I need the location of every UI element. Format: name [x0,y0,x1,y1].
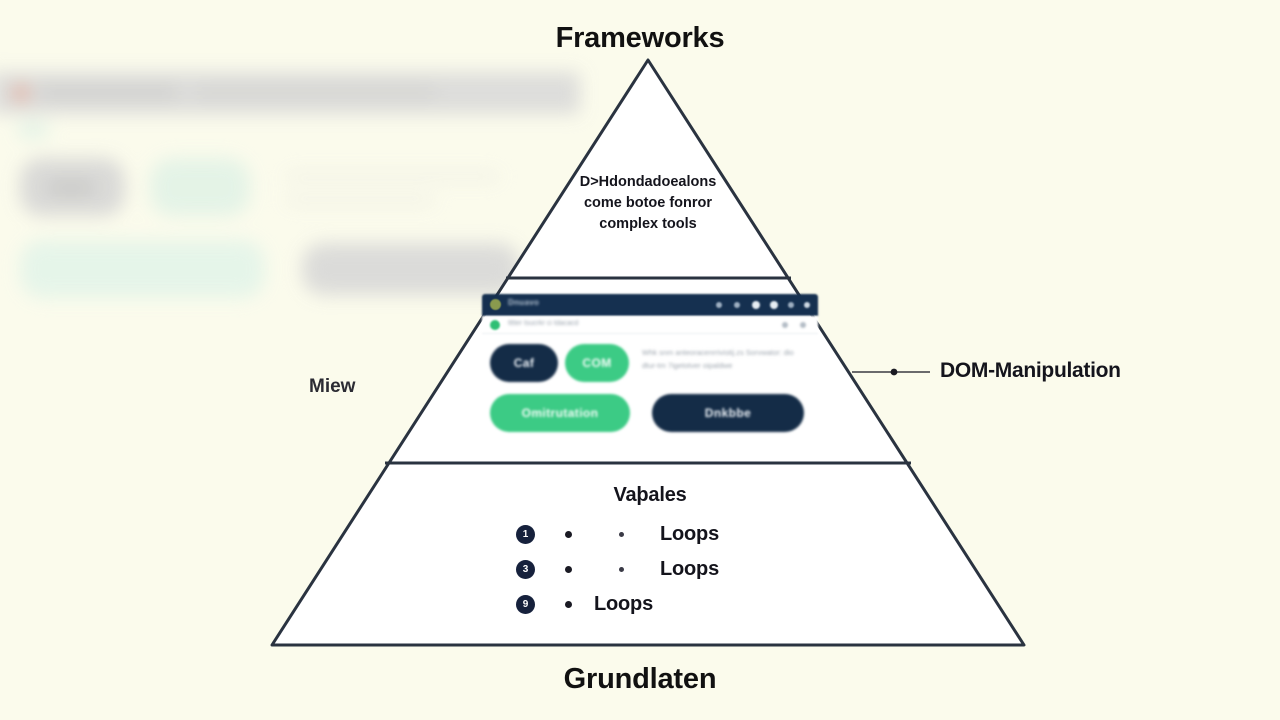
list-item-badge: 1 [516,525,535,544]
list-item: 3 Loops [380,552,920,587]
mockup-refresh-icon[interactable] [782,322,788,328]
list-item-subbullet-icon [619,532,624,537]
mockup-paragraph-line-1: Whk snm anteoracenrrivistij.zs Sorvwator… [642,346,807,359]
list-item: 9 Loops [380,587,920,622]
mockup-chrome-forward-icon[interactable] [734,302,740,308]
mockup-button-wide-accent[interactable]: Omitrutation [490,394,630,432]
tier-apex-line-3: complex tools [528,214,768,235]
list-item-badge: 3 [516,560,535,579]
mockup-chrome-maximize-icon[interactable] [770,301,778,309]
annotation-right-label: DOM-Manipulation [940,359,1121,383]
mockup-content-area: Caf COM Omitrutation Dnkbbe Whk snm ante… [482,336,818,452]
mockup-button-accent[interactable]: COM [565,344,629,382]
mockup-button-primary[interactable]: Caf [490,344,558,382]
mockup-favicon-icon [490,299,501,310]
mockup-url-text: tttter tsucrkr ci tdacacd [508,320,578,327]
list-item-bullet-icon [565,566,572,573]
mockup-chrome-minimize-icon[interactable] [752,301,760,309]
list-item-label: Loops [660,558,719,581]
mockup-chrome-share-icon[interactable] [788,302,794,308]
list-item-bullet-icon [565,531,572,538]
mockup-menu-icon[interactable] [800,322,806,328]
pyramid-tier-base-content: Vaþales 1 Loops 3 Loops 9 Loops [380,484,920,622]
page-title-bottom: Grundlaten [0,663,1280,696]
list-item-subbullet-icon [619,567,624,572]
mockup-secure-lock-icon [490,320,500,330]
mockup-chrome-back-icon[interactable] [716,302,722,308]
list-item-bullet-icon [565,601,572,608]
mockup-button-wide-primary[interactable]: Dnkbbe [652,394,804,432]
mockup-paragraph-text: Whk snm anteoracenrrivistij.zs Sorvwator… [642,346,807,372]
tier-apex-line-2: come botoe fonror [528,193,768,214]
annotation-left-label: Miew [309,376,355,398]
tier-apex-line-1: D>Hdondadoealons [528,172,768,193]
list-item-label: Loops [594,593,653,616]
list-item-label: Loops [660,523,719,546]
mockup-url-bar[interactable]: tttter tsucrkr ci tdacacd [482,316,818,334]
tier-base-heading: Vaþales [380,484,920,507]
pyramid-tier-apex-text: D>Hdondadoealons come botoe fonror compl… [528,172,768,235]
list-item: 1 Loops [380,517,920,552]
list-item-badge: 9 [516,595,535,614]
diagram-canvas: Frameworks D>Hdondadoealons come botoe f… [0,0,1280,720]
annotation-leader-dot-icon [891,369,898,376]
mockup-chrome-close-icon[interactable] [804,302,810,308]
mockup-paragraph-line-2: dtur-tm 7igetotver oipaldwe [642,359,807,372]
browser-window-mockup: Dnuavo tttter tsucrkr ci tdacacd Caf COM… [482,294,818,452]
mockup-window-title: Dnuavo [508,298,539,307]
